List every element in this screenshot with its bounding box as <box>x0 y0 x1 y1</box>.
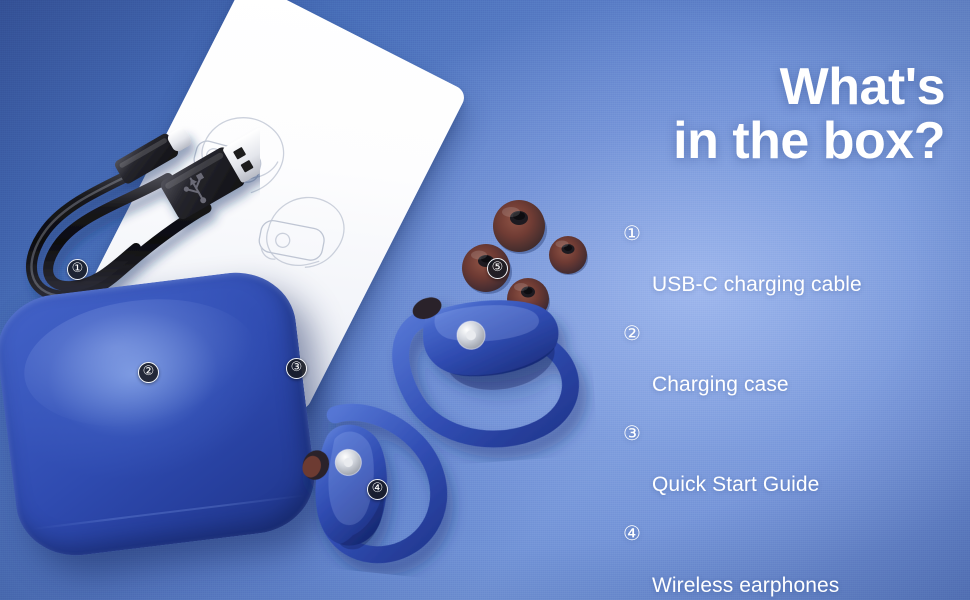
list-item-2: ② Charging case <box>623 320 945 398</box>
callout-badge-3[interactable]: ③ <box>286 358 307 379</box>
list-item-4: ④ Wireless earphones <box>623 520 945 598</box>
eartip-small <box>545 232 591 278</box>
list-label-3: Quick Start Guide <box>652 473 819 496</box>
product-image-canvas: T16 User Manual True Wireless Sports Ear… <box>0 0 970 600</box>
list-label-2: Charging case <box>652 373 789 396</box>
list-item-3: ③ Quick Start Guide <box>623 420 945 498</box>
list-label-1: USB-C charging cable <box>652 273 862 296</box>
page-title: What's in the box? <box>605 60 945 168</box>
list-number-4: ④ <box>623 521 641 546</box>
list-number-3: ③ <box>623 421 641 446</box>
callout-badge-2[interactable]: ② <box>138 362 159 383</box>
heading-line-1: What's <box>605 60 945 114</box>
case-body <box>0 266 321 563</box>
charging-case <box>0 266 321 563</box>
earbud-left <box>291 390 508 585</box>
copy-panel: What's in the box? ① USB-C charging cabl… <box>605 60 945 600</box>
list-number-1: ① <box>623 221 641 246</box>
heading-line-2: in the box? <box>605 114 945 168</box>
list-number-2: ② <box>623 321 641 346</box>
callout-badge-5[interactable]: ⑤ <box>487 258 508 279</box>
box-contents-list: ① USB-C charging cable ② Charging case ③… <box>605 220 945 600</box>
callout-badge-1[interactable]: ① <box>67 259 88 280</box>
list-label-4: Wireless earphones <box>652 574 839 597</box>
callout-badge-4[interactable]: ④ <box>367 479 388 500</box>
list-item-1: ① USB-C charging cable <box>623 220 945 298</box>
